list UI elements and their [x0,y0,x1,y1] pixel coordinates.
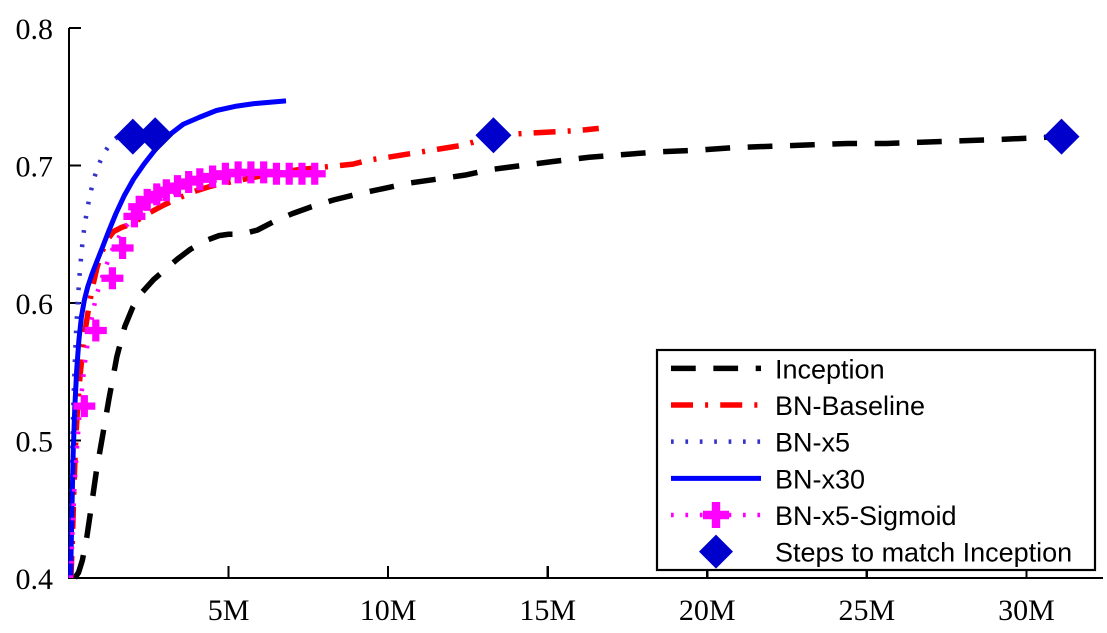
plus-marker [112,237,134,259]
x-tick-label-25M: 25M [838,594,895,627]
diamond-marker [137,117,173,153]
y-tick-label-0.5: 0.5 [16,426,54,459]
diamond-marker [475,117,511,153]
x-tick-label-5M: 5M [208,594,250,627]
legend-label-bn-x5: BN-x5 [775,428,850,458]
legend-label-bn-baseline: BN-Baseline [775,391,925,421]
plus-marker [101,267,123,289]
diamond-marker [1044,119,1080,155]
x-tick-label-20M: 20M [679,594,736,627]
chart-figure: 0.40.50.60.70.85M10M15M20M25M30MInceptio… [0,0,1107,633]
legend-label-bn-x30: BN-x30 [775,464,865,494]
y-tick-label-0.6: 0.6 [16,288,54,321]
legend-label-bn-x5-sigmoid: BN-x5-Sigmoid [775,501,957,531]
x-tick-label-15M: 15M [519,594,576,627]
x-tick-label-30M: 30M [998,594,1055,627]
x-tick-label-10M: 10M [360,594,417,627]
legend: InceptionBN-BaselineBN-x5BN-x30BN-x5-Sig… [657,350,1095,570]
y-tick-label-0.7: 0.7 [16,151,54,184]
legend-label-inception: Inception [775,354,885,384]
accuracy-vs-steps-chart: 0.40.50.60.70.85M10M15M20M25M30MInceptio… [0,0,1107,633]
y-tick-label-0.8: 0.8 [16,13,54,46]
y-tick-label-0.4: 0.4 [16,563,54,596]
legend-label-steps-to-match-inception: Steps to match Inception [775,538,1072,568]
series-steps-to-match-inception [115,117,1080,154]
